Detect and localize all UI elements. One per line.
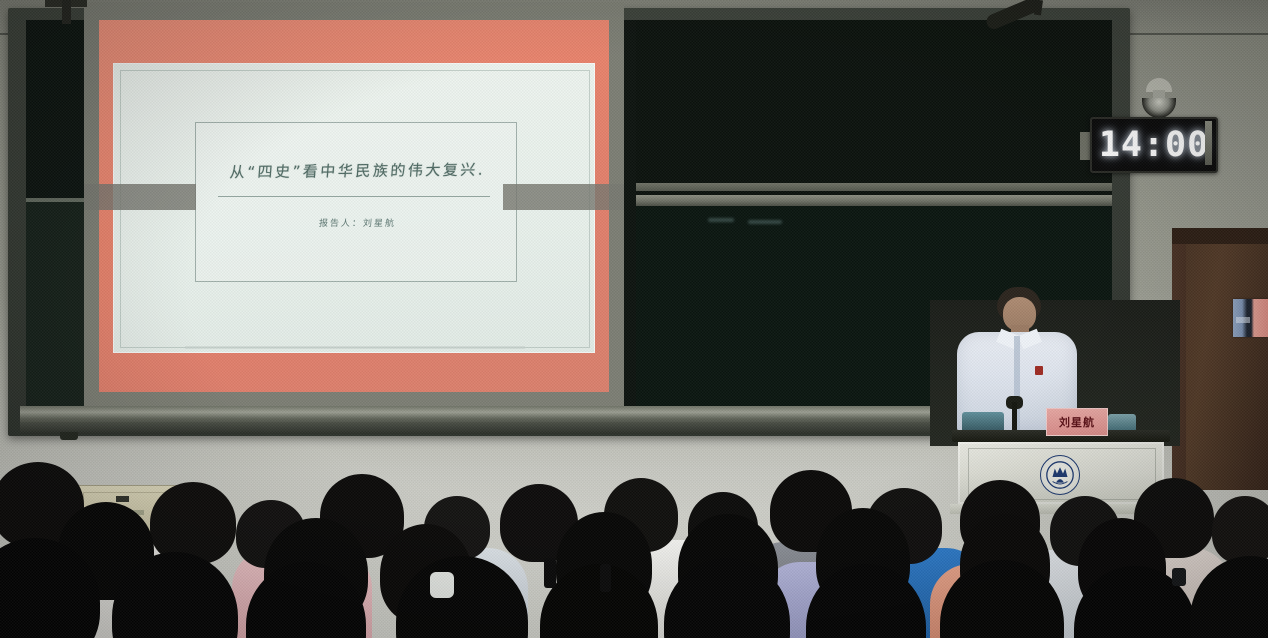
blackboard-right-upper	[636, 20, 1112, 195]
nameplate-text: 刘星航	[1059, 414, 1095, 430]
screen-shadow-band-right	[503, 184, 624, 210]
clock-time-display: 14:00	[1099, 125, 1209, 165]
door-header	[1172, 228, 1268, 244]
audience-head	[1212, 496, 1268, 564]
slide-divider-rule	[218, 196, 490, 197]
door-notice-strip	[1236, 317, 1250, 323]
digital-clock: 14:00	[1090, 117, 1218, 173]
slide-subtitle: 报告人：刘星航	[205, 216, 511, 229]
blackboard-left-rail	[26, 198, 88, 202]
blackboard-left-panel	[26, 20, 88, 408]
clock-side-edge	[1205, 121, 1212, 165]
speaker-nameplate: 刘星航	[1046, 408, 1108, 436]
blackboard-rail-lower	[636, 195, 1112, 206]
raised-phone	[544, 558, 556, 588]
audience-area: LOVE	[0, 452, 1268, 638]
lecture-hall-photo: 从“四史”看中华民族的伟大复兴. 报告人：刘星航 14:00	[0, 0, 1268, 638]
slide-content-box	[195, 122, 517, 282]
audience-head	[150, 482, 236, 564]
ceiling-projector-mount	[62, 0, 71, 24]
raised-phone	[1172, 568, 1186, 586]
chalk-smudge	[748, 220, 782, 224]
slide-title: 从“四史”看中华民族的伟大复兴.	[204, 158, 511, 182]
tray-foot	[60, 432, 78, 440]
speaker-badge	[1035, 366, 1043, 375]
raised-phone	[600, 564, 611, 592]
slide-footer-line	[185, 346, 525, 349]
water-bottle	[430, 572, 454, 598]
blackboard-rail-upper	[636, 183, 1112, 191]
chalk-smudge	[708, 218, 734, 222]
screen-shadow-band-left	[84, 184, 196, 210]
